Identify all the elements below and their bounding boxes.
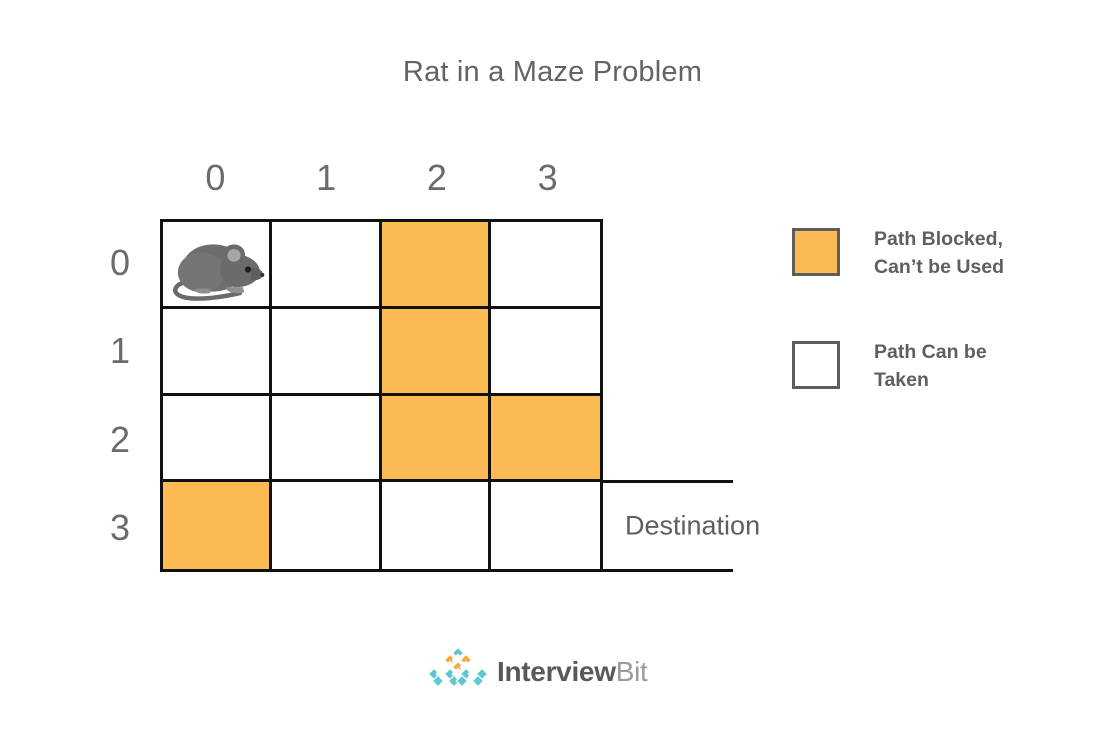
maze-cell-3-0[interactable] <box>163 482 272 569</box>
column-header-3: 3 <box>492 157 603 199</box>
maze-cell-2-3[interactable] <box>491 396 600 483</box>
row-header-3: 3 <box>98 484 142 572</box>
callout-top-line <box>603 480 733 483</box>
legend-item-open: Path Can be Taken <box>792 339 1072 394</box>
maze-cell-0-1[interactable] <box>272 222 381 309</box>
maze-cell-3-3[interactable] <box>491 482 600 569</box>
rat-icon <box>169 228 265 302</box>
row-header-0: 0 <box>98 219 142 307</box>
maze-cell-3-2[interactable] <box>382 482 491 569</box>
legend-label-blocked: Path Blocked, Can’t be Used <box>874 226 1004 281</box>
maze-figure: 0 1 2 3 0 1 2 3 <box>160 219 603 572</box>
maze-cell-1-1[interactable] <box>272 309 381 396</box>
brand-name-bold: Interview <box>497 656 616 687</box>
maze-cell-0-2[interactable] <box>382 222 491 309</box>
row-header-1: 1 <box>98 307 142 395</box>
maze-cell-1-3[interactable] <box>491 309 600 396</box>
brand-logo: InterviewBit <box>429 648 647 695</box>
legend-swatch-open <box>792 341 840 389</box>
legend-label-open: Path Can be Taken <box>874 339 987 394</box>
destination-callout: Destination <box>603 480 733 572</box>
maze-grid <box>160 219 603 572</box>
column-header-1: 1 <box>271 157 382 199</box>
destination-label: Destination <box>625 511 760 542</box>
legend: Path Blocked, Can’t be Used Path Can be … <box>792 226 1072 453</box>
maze-cell-3-1[interactable] <box>272 482 381 569</box>
maze-cell-1-0[interactable] <box>163 309 272 396</box>
brand-wordmark: InterviewBit <box>497 656 647 688</box>
column-header-0: 0 <box>160 157 271 199</box>
column-header-2: 2 <box>382 157 493 199</box>
maze-cell-0-0[interactable] <box>163 222 272 309</box>
legend-item-blocked: Path Blocked, Can’t be Used <box>792 226 1072 281</box>
maze-cell-2-0[interactable] <box>163 396 272 483</box>
page-title: Rat in a Maze Problem <box>0 56 1105 89</box>
brand-name-light: Bit <box>616 656 648 687</box>
row-header-2: 2 <box>98 396 142 484</box>
callout-bottom-line <box>603 569 733 572</box>
maze-cell-2-1[interactable] <box>272 396 381 483</box>
interviewbit-diamonds-icon <box>429 648 487 695</box>
maze-cell-0-3[interactable] <box>491 222 600 309</box>
maze-cell-2-2[interactable] <box>382 396 491 483</box>
legend-swatch-blocked <box>792 228 840 276</box>
maze-cell-1-2[interactable] <box>382 309 491 396</box>
